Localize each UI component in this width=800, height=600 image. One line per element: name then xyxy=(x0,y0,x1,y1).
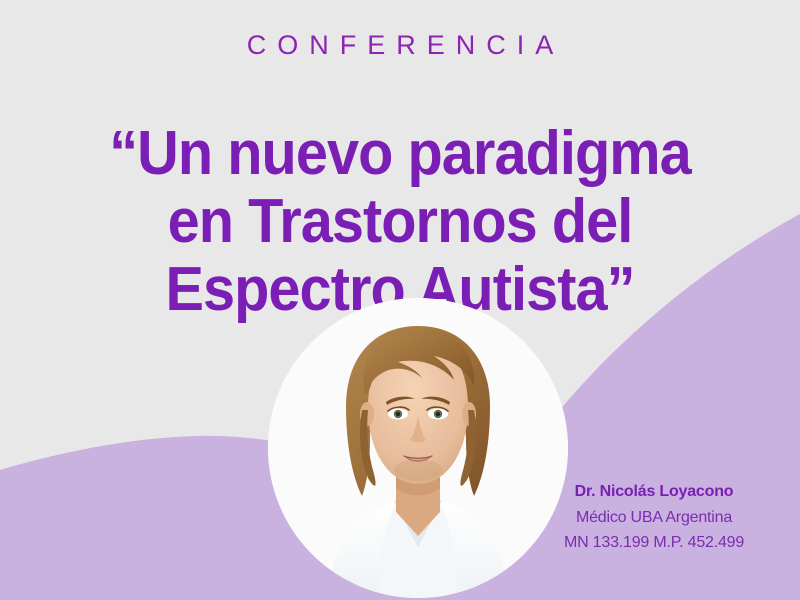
headline-line-2: en Trastornos del xyxy=(28,188,772,256)
page-title: “Un nuevo paradigma en Trastornos del Es… xyxy=(28,120,772,324)
portrait-disc xyxy=(268,298,568,598)
speaker-affiliation: Médico UBA Argentina xyxy=(508,510,800,526)
speaker-registration-numbers: MN 133.199 M.P. 452.499 xyxy=(508,535,800,551)
speaker-name: Dr. Nicolás Loyacono xyxy=(508,484,800,500)
speaker-credit: Dr. Nicolás Loyacono Médico UBA Argentin… xyxy=(508,484,800,551)
headline-line-1: “Un nuevo paradigma xyxy=(28,120,772,188)
portrait-illustration xyxy=(268,298,568,598)
conference-poster: CONFERENCIA “Un nuevo paradigma en Trast… xyxy=(0,0,800,600)
speaker-portrait xyxy=(268,298,568,600)
conference-eyebrow-label: CONFERENCIA xyxy=(0,32,800,59)
